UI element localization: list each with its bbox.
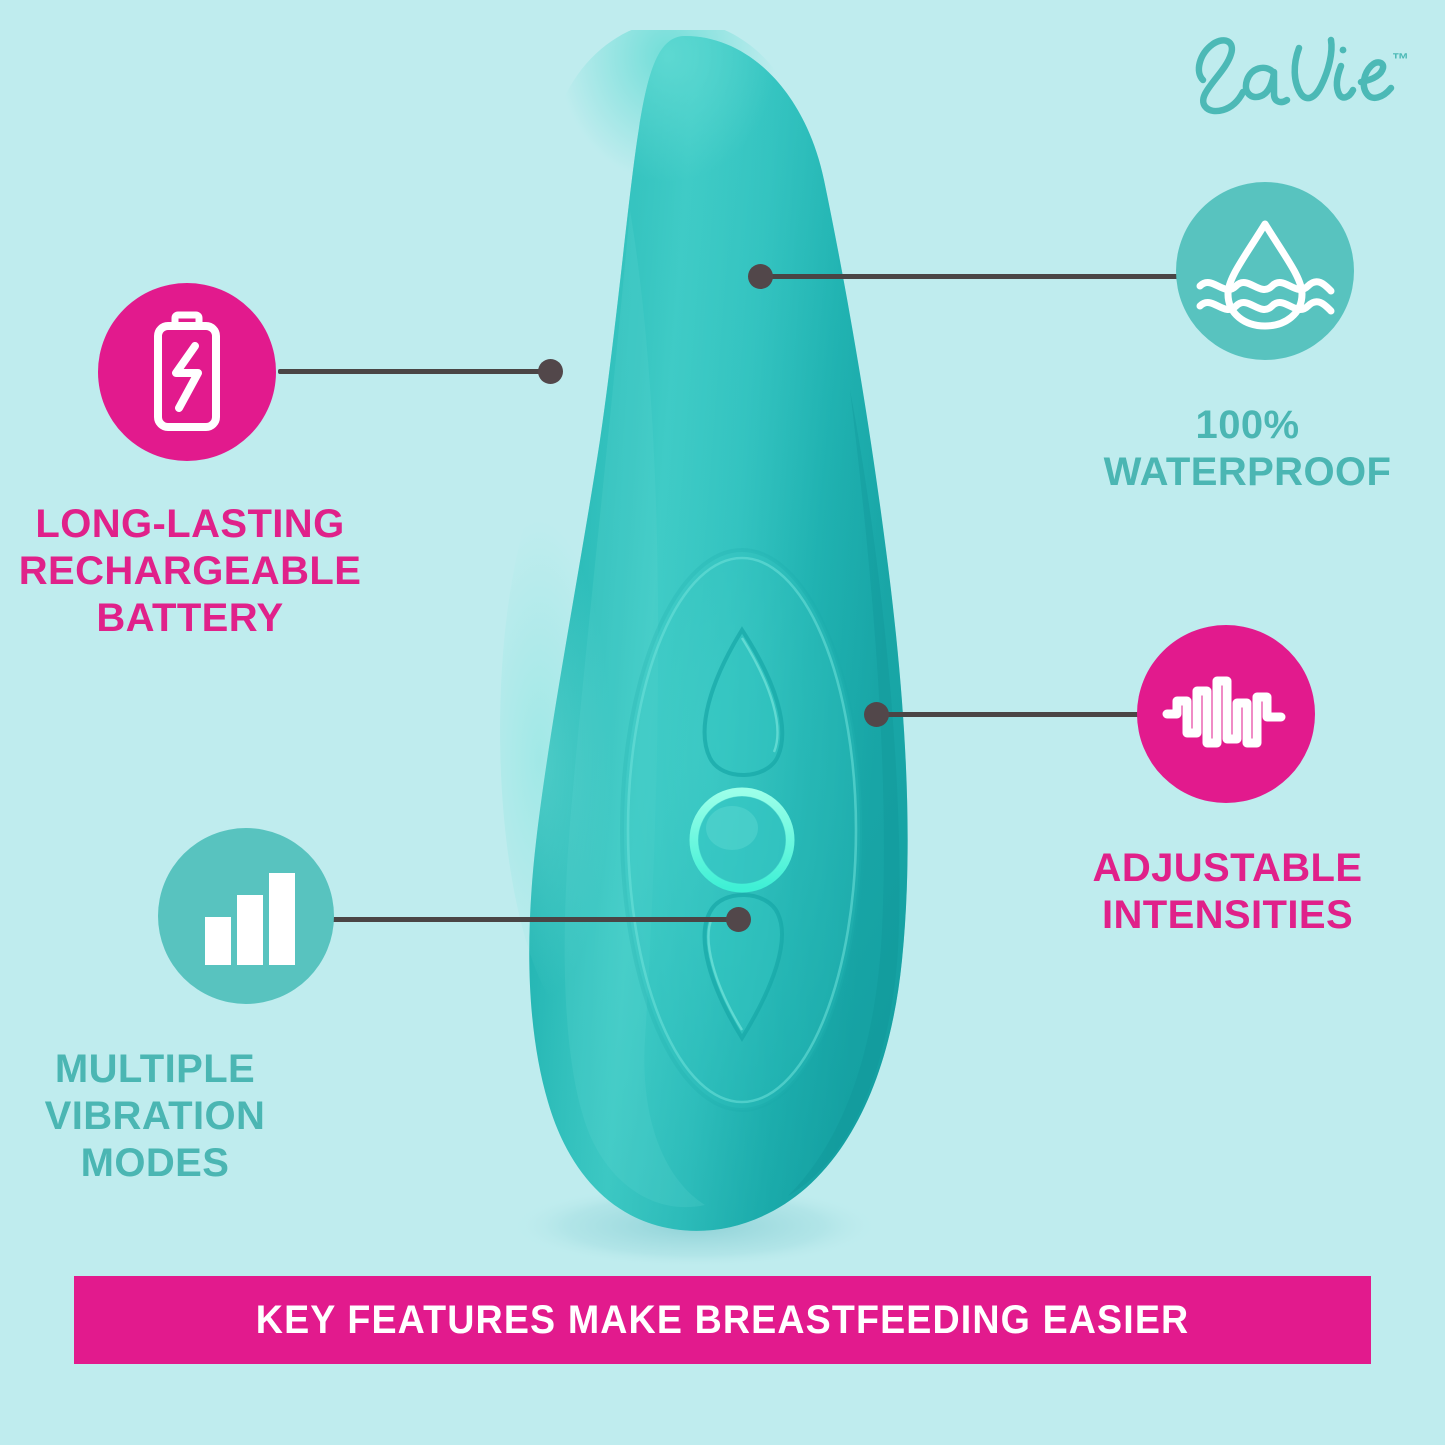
bar-low [205,917,231,965]
battery-icon-circle [98,283,276,461]
banner-text: KEY FEATURES MAKE BREASTFEEDING EASIER [256,1298,1190,1343]
lavie-script-logo [1181,22,1411,122]
product-illustration [420,30,980,1265]
feature-battery: LONG-LASTING RECHARGEABLE BATTERY [0,283,470,643]
control-panel [622,550,862,1110]
connector-dot-intensities [864,702,889,727]
intensities-icon-circle [1137,625,1315,803]
feature-intensities-line-1: ADJUSTABLE [1010,845,1445,892]
feature-vibration-line-1: MULTIPLE [0,1046,365,1093]
wave-line-top [1200,282,1331,291]
connector-dot-waterproof [748,264,773,289]
key-features-banner: KEY FEATURES MAKE BREASTFEEDING EASIER [74,1276,1371,1364]
feature-waterproof: 100% WATERPROOF [1050,182,1445,496]
feature-battery-line-2: RECHARGEABLE [0,548,380,595]
product-image [420,30,980,1265]
connector-dot-battery [538,359,563,384]
battery-charging-icon [132,307,242,437]
feature-battery-line-1: LONG-LASTING [0,501,380,548]
feature-waterproof-line-2: WATERPROOF [1050,449,1445,496]
infographic-canvas: ™ [0,0,1445,1445]
feature-waterproof-line-1: 100% [1050,402,1445,449]
feature-vibration-label: MULTIPLE VIBRATION MODES [0,1046,365,1188]
feature-battery-label: LONG-LASTING RECHARGEABLE BATTERY [0,501,380,643]
bar-chart-icon [191,861,301,971]
lightning-bolt [176,346,198,408]
bar-high [269,873,295,965]
feature-battery-line-3: BATTERY [0,595,380,642]
feature-vibration-line-3: MODES [0,1140,365,1187]
wave-line-bottom [1200,302,1331,311]
feature-intensities: ADJUSTABLE INTENSITIES [1010,625,1445,939]
feature-intensities-line-2: INTENSITIES [1010,892,1445,939]
power-button-highlight [706,806,758,850]
trademark-symbol: ™ [1392,50,1409,70]
feature-intensities-label: ADJUSTABLE INTENSITIES [1010,845,1445,939]
water-droplet-icon [1190,206,1340,336]
feature-vibration: MULTIPLE VIBRATION MODES [0,828,470,1188]
feature-vibration-line-2: VIBRATION [0,1093,365,1140]
feature-waterproof-label: 100% WATERPROOF [1050,402,1445,496]
waveform-path [1167,681,1281,743]
brand-logo: ™ [1181,22,1411,122]
vibration-icon-circle [158,828,334,1004]
bar-mid [237,895,263,965]
connector-dot-vibration [726,907,751,932]
waterproof-icon-circle [1176,182,1354,360]
waveform-icon [1161,659,1291,769]
